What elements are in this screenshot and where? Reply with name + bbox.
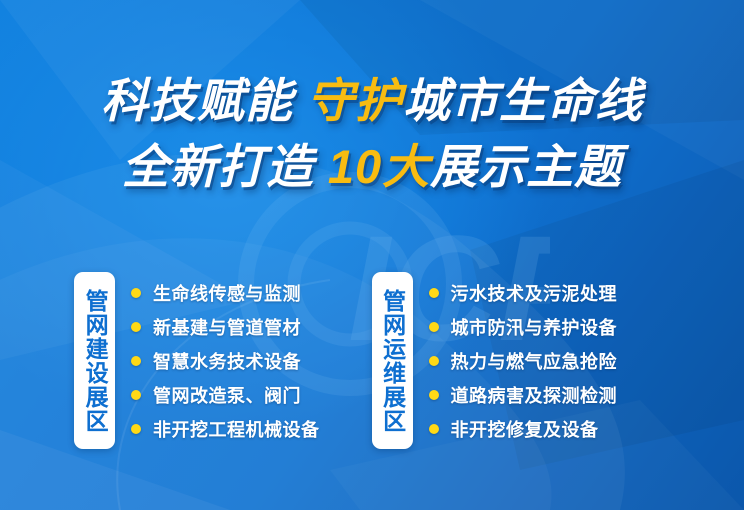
list-item: 新基建与管道管材 (131, 310, 320, 344)
headline-line-1: 科技赋能 守护城市生命线 (0, 72, 744, 130)
list-item: 非开挖修复及设备 (429, 412, 618, 446)
bullet-dot-icon (429, 356, 439, 366)
zone-construction: 管网建设展区 生命线传感与监测 新基建与管道管材 智慧水务技术设备 管网改造泵 (74, 272, 320, 449)
list-item-label: 非开挖工程机械设备 (153, 416, 320, 442)
headline-line-1-part-1: 科技赋能 (101, 74, 307, 127)
list-item: 道路病害及探测检测 (429, 378, 618, 412)
zone-construction-tag: 管网建设展区 (74, 272, 115, 449)
bullet-dot-icon (429, 390, 439, 400)
list-item-label: 污水技术及污泥处理 (451, 280, 618, 306)
list-item-label: 生命线传感与监测 (153, 280, 301, 306)
zone-construction-list: 生命线传感与监测 新基建与管道管材 智慧水务技术设备 管网改造泵、阀门 非开挖工… (131, 272, 320, 446)
list-item: 智慧水务技术设备 (131, 344, 320, 378)
list-item: 管网改造泵、阀门 (131, 378, 320, 412)
bullet-dot-icon (429, 288, 439, 298)
zone-construction-tag-label: 管网建设展区 (81, 289, 108, 433)
headline-line-2-accent: 10大 (328, 140, 430, 193)
list-item-label: 道路病害及探测检测 (451, 382, 618, 408)
zone-operations-list: 污水技术及污泥处理 城市防汛与养护设备 热力与燃气应急抢险 道路病害及探测检测 … (429, 272, 618, 446)
bullet-dot-icon (131, 288, 141, 298)
headline-line-2-part-2: 展示主题 (430, 140, 622, 193)
list-item-label: 智慧水务技术设备 (153, 348, 301, 374)
list-item-label: 新基建与管道管材 (153, 314, 301, 340)
bullet-dot-icon (131, 424, 141, 434)
list-item: 生命线传感与监测 (131, 276, 320, 310)
zone-operations-tag: 管网运维展区 (372, 272, 413, 449)
bullet-dot-icon (131, 322, 141, 332)
bullet-dot-icon (429, 322, 439, 332)
list-item-label: 城市防汛与养护设备 (451, 314, 618, 340)
zone-operations: 管网运维展区 污水技术及污泥处理 城市防汛与养护设备 热力与燃气应急抢险 道路 (372, 272, 618, 449)
headline-line-1-accent: 守护 (307, 74, 403, 127)
bullet-dot-icon (131, 356, 141, 366)
zone-operations-tag-label: 管网运维展区 (378, 289, 405, 433)
headline-line-2: 全新打造 10大展示主题 (0, 138, 744, 196)
bullet-dot-icon (131, 390, 141, 400)
headline-line-1-part-2: 城市生命线 (403, 74, 643, 127)
list-item: 城市防汛与养护设备 (429, 310, 618, 344)
list-item: 污水技术及污泥处理 (429, 276, 618, 310)
list-item-label: 管网改造泵、阀门 (153, 382, 301, 408)
headline-block: 科技赋能 守护城市生命线 全新打造 10大展示主题 (0, 72, 744, 196)
list-item-label: 非开挖修复及设备 (451, 416, 599, 442)
zones-container: 管网建设展区 生命线传感与监测 新基建与管道管材 智慧水务技术设备 管网改造泵 (0, 272, 744, 449)
list-item-label: 热力与燃气应急抢险 (451, 348, 618, 374)
bullet-dot-icon (429, 424, 439, 434)
promo-banner: ICP 科技赋能 守护城市生命线 全新打造 10大展示主题 管网建设展区 生命线… (0, 0, 744, 510)
list-item: 热力与燃气应急抢险 (429, 344, 618, 378)
list-item: 非开挖工程机械设备 (131, 412, 320, 446)
headline-line-2-part-1: 全新打造 (122, 140, 328, 193)
